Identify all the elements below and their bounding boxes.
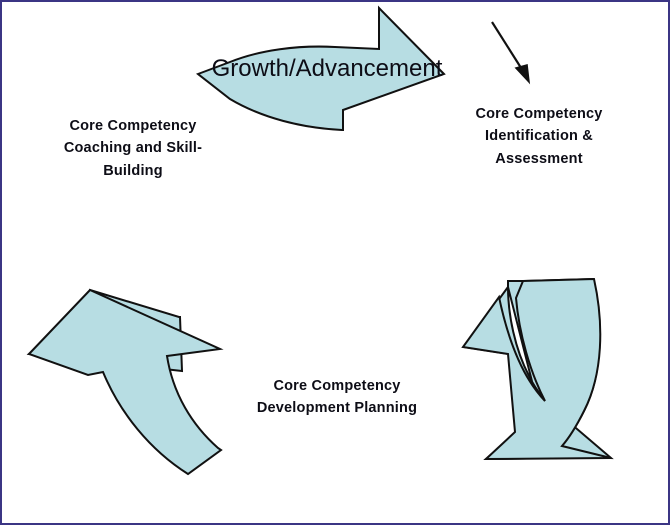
pointer-arrow	[492, 22, 529, 82]
stage-label-coaching: Core Competency Coaching and Skill- Buil…	[38, 115, 228, 182]
stage-label-identification: Core Competency Identification & Assessm…	[444, 103, 634, 170]
diagram-frame: Core Competency Identification & Assessm…	[0, 0, 670, 525]
stage-label-growth: Growth/Advancement	[202, 56, 452, 82]
stage-label-development: Core Competency Development Planning	[232, 375, 442, 420]
left-curved-up-left-arrow-outline	[29, 290, 221, 474]
right-curved-down-left-arrow-outline	[463, 279, 611, 459]
